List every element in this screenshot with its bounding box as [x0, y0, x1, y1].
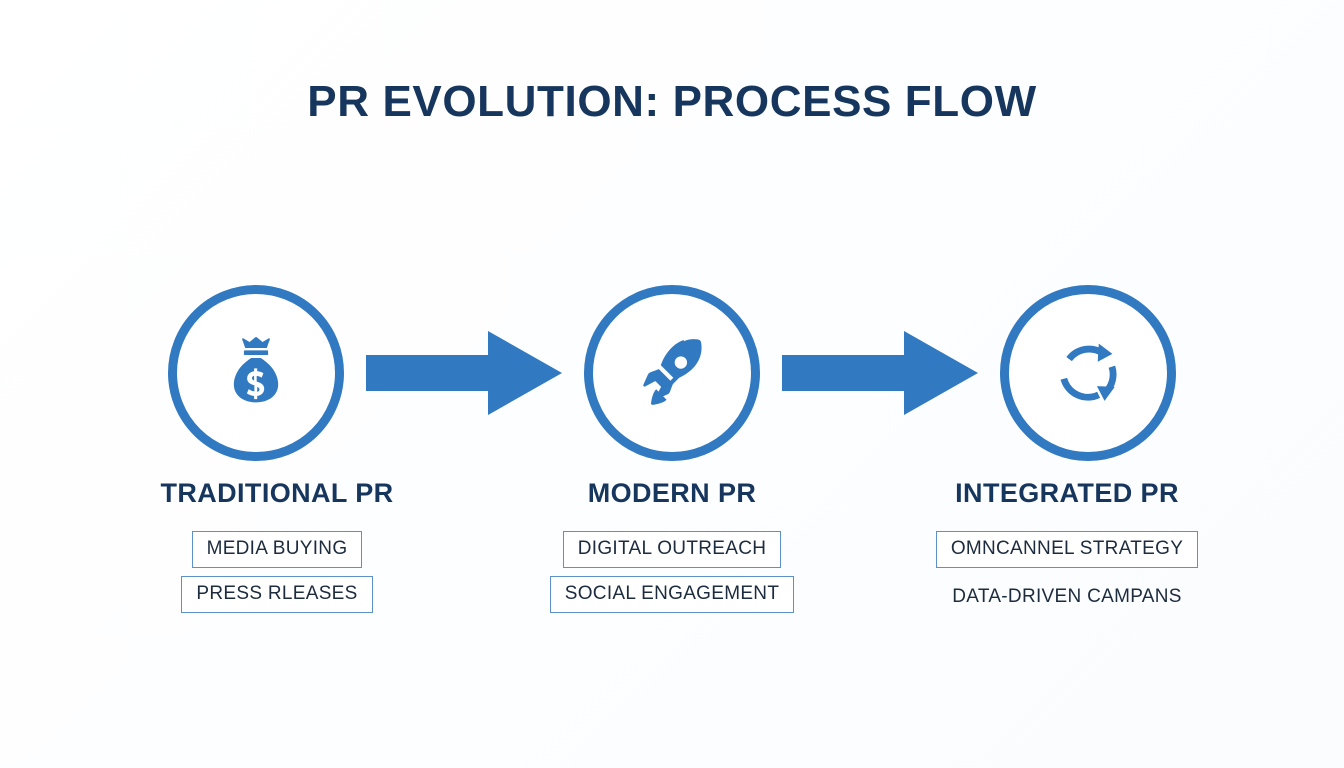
step-heading-integrated-pr: INTEGRATED PR — [955, 478, 1179, 509]
step-circle-modern-pr[interactable] — [584, 285, 760, 461]
tag-list-modern-pr: DIGITAL OUTREACH SOCIAL ENGAGEMENT — [550, 531, 795, 613]
tag-data-driven-campans: DATA-DRIVEN CAMPANS — [937, 576, 1197, 616]
step-column-traditional-pr: TRADITIONAL PR MEDIA BUYING PRESS RLEASE… — [80, 478, 475, 616]
step-column-integrated-pr: INTEGRATED PR OMNCANNEL STRATEGY DATA-DR… — [870, 478, 1265, 616]
arrow-right-icon-2 — [781, 325, 979, 421]
tag-social-engagement[interactable]: SOCIAL ENGAGEMENT — [550, 576, 795, 613]
step-heading-modern-pr: MODERN PR — [588, 478, 757, 509]
process-flow-row — [0, 283, 1344, 463]
step-circle-traditional-pr[interactable] — [168, 285, 344, 461]
tag-list-traditional-pr: MEDIA BUYING PRESS RLEASES — [181, 531, 372, 613]
money-bag-icon — [213, 330, 299, 416]
slide-canvas: PR EVOLUTION: PROCESS FLOW — [0, 0, 1344, 768]
arrow-right-icon-1 — [365, 325, 563, 421]
tag-omncannel-strategy[interactable]: OMNCANNEL STRATEGY — [936, 531, 1198, 568]
tag-list-integrated-pr: OMNCANNEL STRATEGY DATA-DRIVEN CAMPANS — [936, 531, 1198, 616]
step-heading-traditional-pr: TRADITIONAL PR — [160, 478, 393, 509]
tag-digital-outreach[interactable]: DIGITAL OUTREACH — [563, 531, 781, 568]
page-title: PR EVOLUTION: PROCESS FLOW — [0, 78, 1344, 126]
step-labels-row: TRADITIONAL PR MEDIA BUYING PRESS RLEASE… — [0, 478, 1344, 616]
tag-media-buying[interactable]: MEDIA BUYING — [192, 531, 363, 568]
tag-press-rleases[interactable]: PRESS RLEASES — [181, 576, 372, 613]
step-column-modern-pr: MODERN PR DIGITAL OUTREACH SOCIAL ENGAGE… — [475, 478, 870, 616]
sync-refresh-icon — [1046, 331, 1130, 415]
rocket-icon — [629, 330, 715, 416]
step-circle-integrated-pr[interactable] — [1000, 285, 1176, 461]
